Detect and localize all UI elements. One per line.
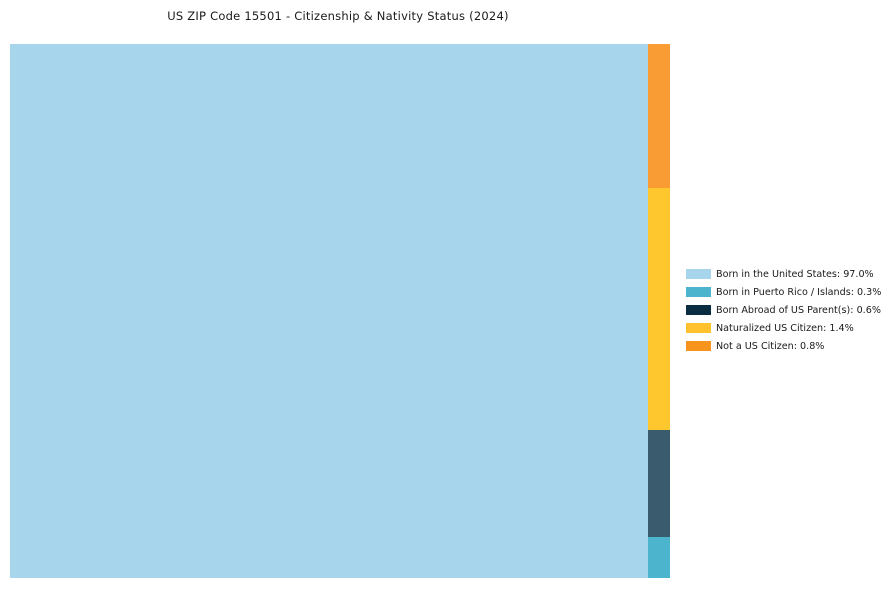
legend-swatch-icon [686,269,711,279]
legend-item-label: Not a US Citizen: 0.8% [716,341,824,352]
treemap-tile[interactable]: Not a US Citizen: 0.8% [648,44,670,188]
treemap-tile[interactable]: Naturalized US Citizen: 1.4% [648,188,670,430]
treemap-tile[interactable]: Born Abroad of US Parent(s): 0.6% [648,430,670,537]
chart-legend: Born in the United States: 97.0%Born in … [686,265,882,355]
page-title: US ZIP Code 15501 - Citizenship & Nativi… [0,9,676,23]
legend-item[interactable]: Born in Puerto Rico / Islands: 0.3% [686,283,882,301]
legend-item-label: Born in Puerto Rico / Islands: 0.3% [716,287,881,298]
legend-item-label: Born in the United States: 97.0% [716,269,874,280]
legend-item[interactable]: Naturalized US Citizen: 1.4% [686,319,882,337]
treemap-figure: US ZIP Code 15501 - Citizenship & Nativi… [0,0,889,590]
treemap-plot-area: Born in the United States: 97%Not a US C… [10,44,670,578]
legend-swatch-icon [686,341,711,351]
legend-item-label: Born Abroad of US Parent(s): 0.6% [716,305,881,316]
legend-item-label: Naturalized US Citizen: 1.4% [716,323,854,334]
treemap-tile[interactable]: Born in Puerto Rico / Islands: 0.3% [648,537,670,578]
treemap-tile[interactable]: Born in the United States: 97% [10,44,648,578]
legend-item[interactable]: Not a US Citizen: 0.8% [686,337,882,355]
legend-swatch-icon [686,305,711,315]
legend-swatch-icon [686,323,711,333]
legend-item[interactable]: Born Abroad of US Parent(s): 0.6% [686,301,882,319]
legend-item[interactable]: Born in the United States: 97.0% [686,265,882,283]
legend-swatch-icon [686,287,711,297]
